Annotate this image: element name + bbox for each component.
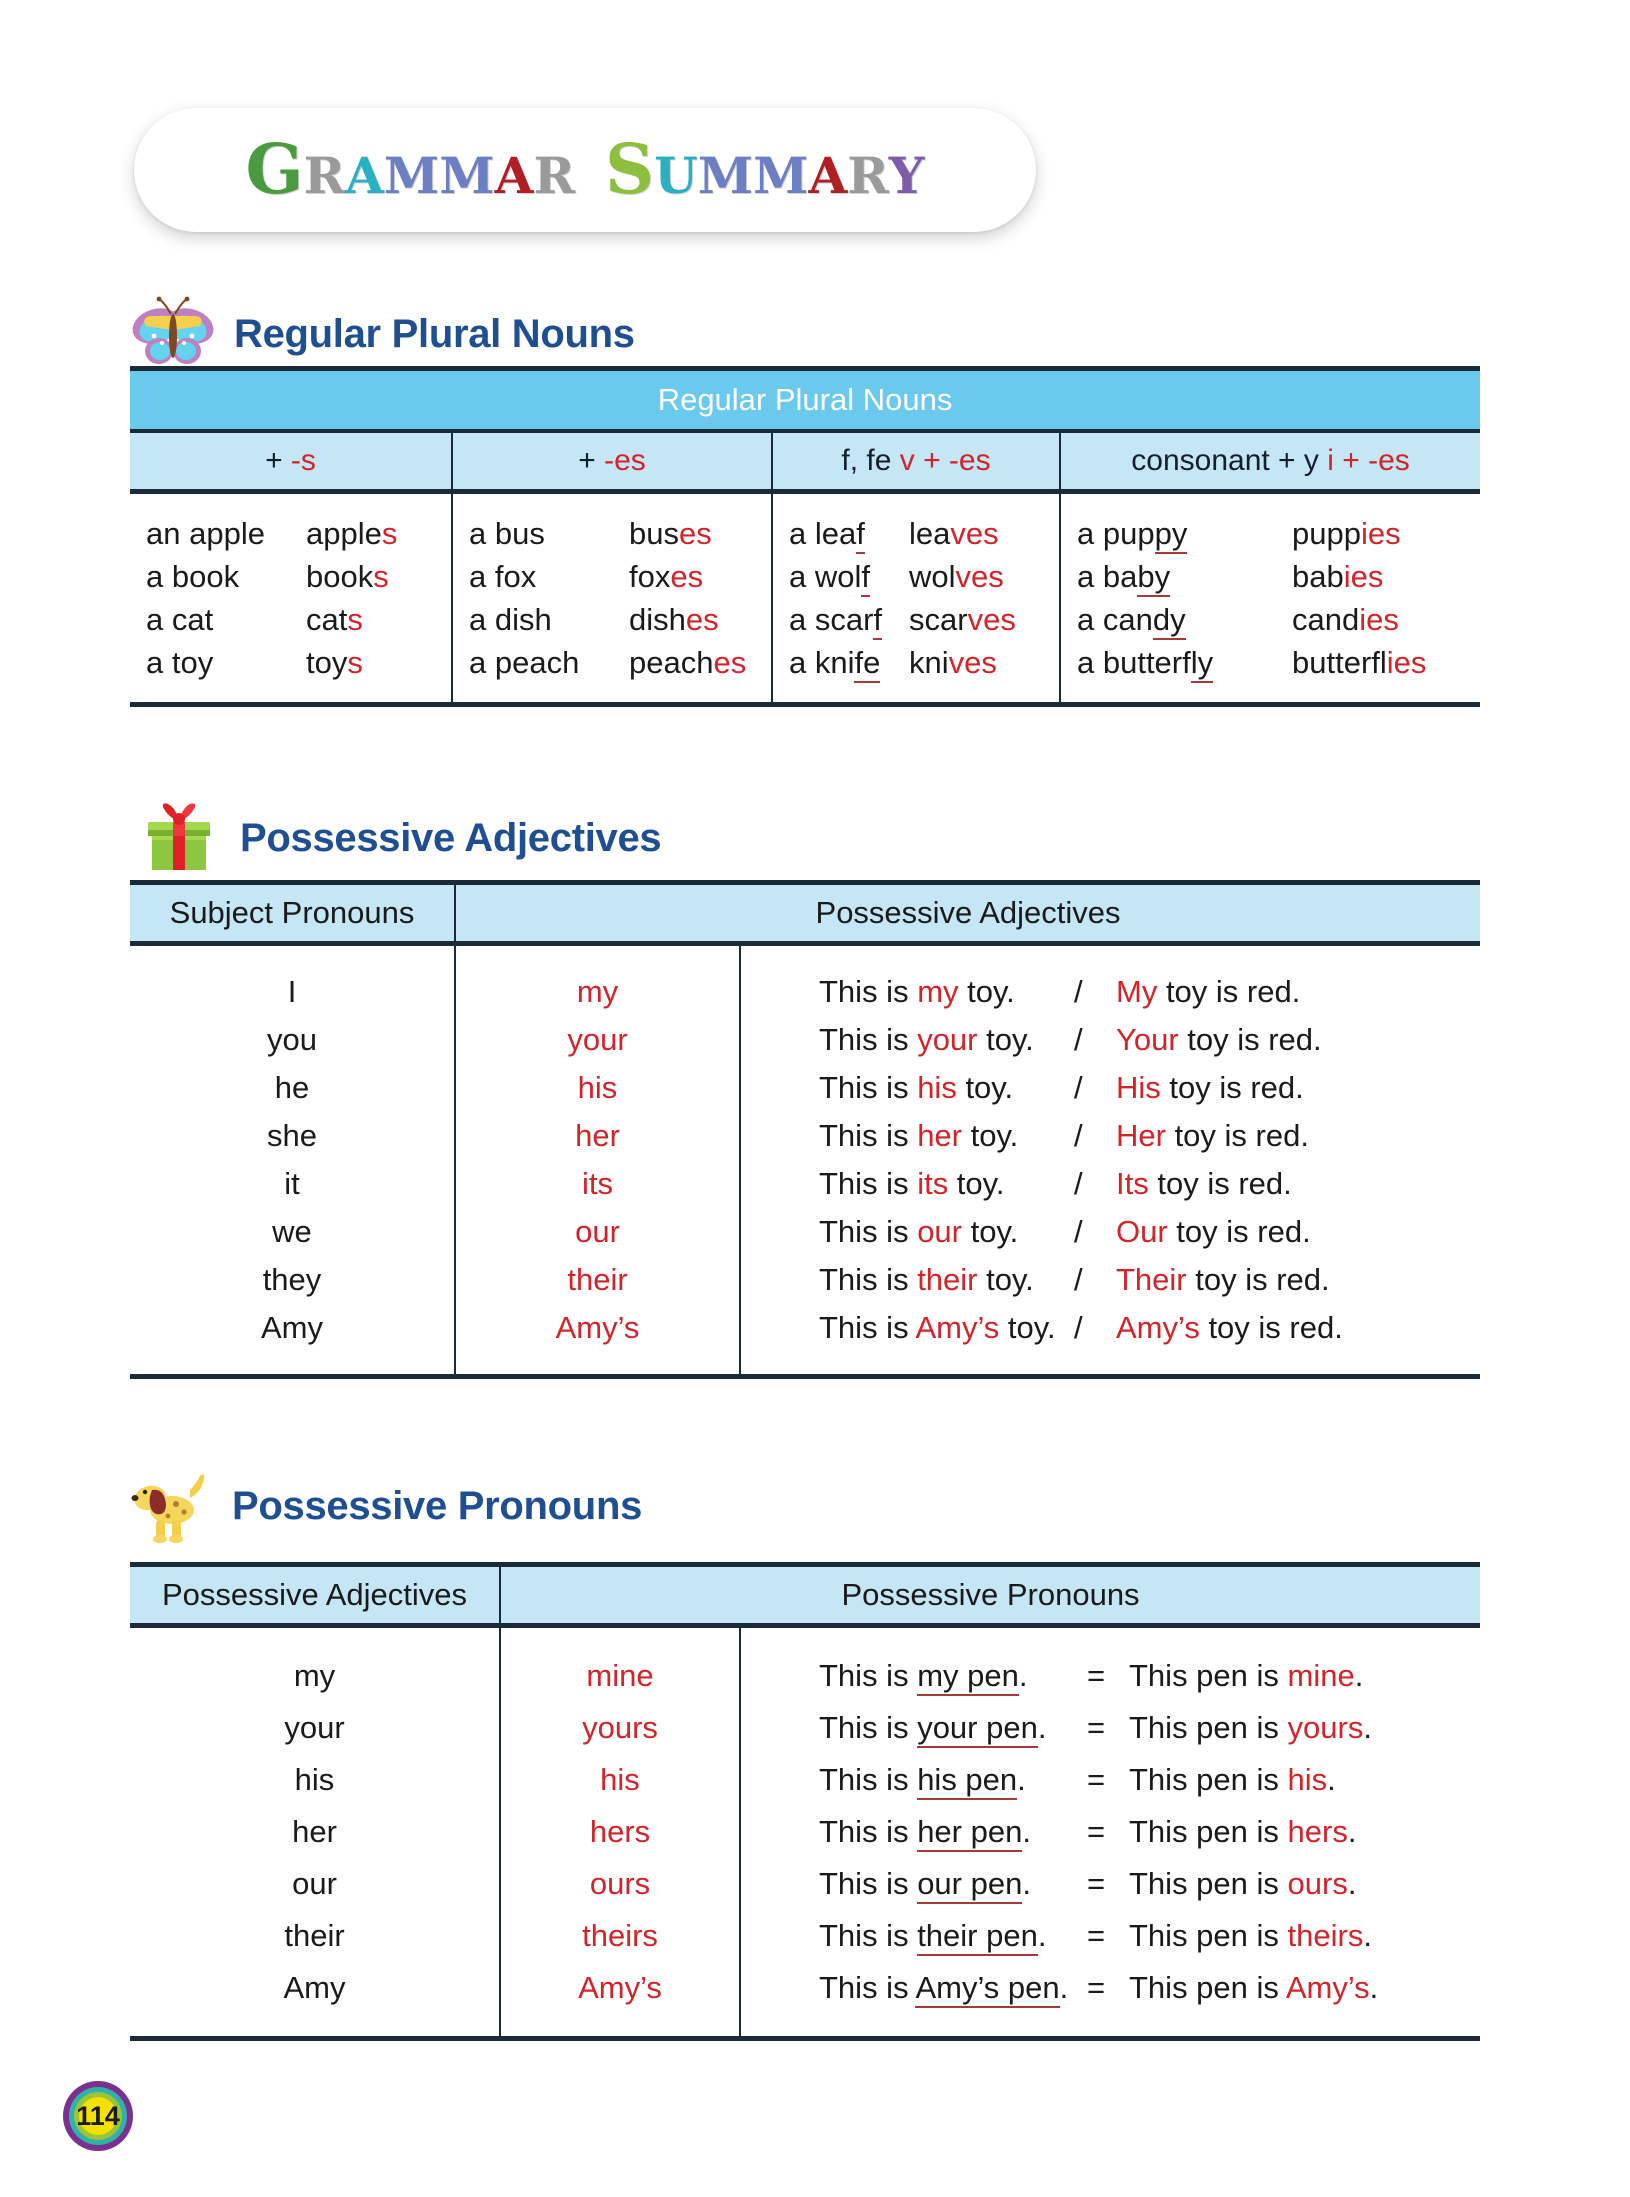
plural-pair: a bookbooks: [146, 559, 451, 595]
plural-suffix: ves: [950, 516, 998, 551]
plural-form: cats: [306, 602, 363, 638]
singular-form: a leaf: [789, 516, 909, 552]
plural-suffix: ies: [1359, 602, 1399, 637]
sentence-separator: /: [1074, 1262, 1116, 1298]
table-spacer: [130, 944, 1480, 969]
example-sentence-1: This is your pen.: [819, 1710, 1087, 1746]
title-letter: M: [698, 151, 753, 201]
possessive-adjective-cell: our: [455, 1208, 740, 1256]
sentence-text: This pen is: [1129, 1866, 1288, 1901]
example-sentence-2: This pen is Amy’s.: [1129, 1970, 1378, 2005]
table-row: AmyAmy’sThis is Amy’s toy./Amy’s toy is …: [130, 1304, 1480, 1352]
plural-pair: a scarfscarves: [789, 602, 1059, 638]
table-spacer-bottom: [130, 684, 1480, 705]
plural-pair: an appleapples: [146, 516, 451, 552]
plural-stem: butterfl: [1292, 645, 1387, 680]
table-row: ititsThis is its toy./Its toy is red.: [130, 1160, 1480, 1208]
example-sentence-2: His toy is red.: [1116, 1070, 1304, 1105]
table-subheader-row: + -s + -es f, fe v + -es consonant + y i…: [130, 431, 1480, 492]
table-row: ImyThis is my toy./My toy is red.: [130, 968, 1480, 1016]
singular-form: a toy: [146, 645, 306, 681]
example-sentence-1: This is Amy’s pen.: [819, 1970, 1087, 2006]
highlighted-word: your: [917, 1022, 977, 1057]
plural-stem: cat: [306, 602, 347, 637]
highlighted-word: Amy’s: [1286, 1970, 1370, 2005]
example-sentences-cell: This is their pen.=This pen is theirs.: [740, 1910, 1480, 1962]
sentence-text: toy is red.: [1161, 1070, 1304, 1105]
example-sentence-pair: This is their pen.=This pen is theirs.: [819, 1918, 1372, 1954]
example-sentence-2: Its toy is red.: [1116, 1166, 1292, 1201]
sentence-separator: =: [1087, 1814, 1129, 1850]
example-sentence-pair: This is my toy./My toy is red.: [819, 974, 1300, 1010]
sentence-text: This is: [819, 1118, 917, 1153]
section-header-possessive-adjectives: Possessive Adjectives: [136, 800, 661, 876]
sentence-text: This is: [819, 1762, 917, 1797]
plural-suffix: ies: [1361, 516, 1401, 551]
example-sentence-pair: This is my pen.=This pen is mine.: [819, 1658, 1363, 1694]
possessive-pronoun-cell: ours: [500, 1858, 740, 1910]
highlighted-word: Her: [1116, 1118, 1166, 1153]
table-regular-plural-nouns: Regular Plural Nouns + -s + -es f, fe v …: [130, 366, 1480, 707]
singular-stem: a can: [1077, 602, 1153, 637]
gift-box-icon: [136, 800, 222, 876]
sentence-text: This pen is: [1129, 1762, 1288, 1797]
underlined-phrase: my pen: [917, 1658, 1019, 1696]
sentence-text: toy.: [962, 1118, 1018, 1153]
possessive-adjective-cell: your: [130, 1702, 500, 1754]
plural-pair: a dishdishes: [469, 602, 771, 638]
plural-form: wolves: [909, 559, 1004, 595]
sentence-text: .: [1348, 1814, 1357, 1849]
singular-form: a puppy: [1077, 516, 1292, 552]
plural-suffix: ves: [968, 602, 1016, 637]
table-row: theirtheirsThis is their pen.=This pen i…: [130, 1910, 1480, 1962]
sentence-separator: /: [1074, 1118, 1116, 1154]
plural-form: buses: [629, 516, 712, 552]
plural-form: knives: [909, 645, 997, 681]
sentence-separator: /: [1074, 1070, 1116, 1106]
title-letter: A: [808, 151, 847, 201]
highlighted-word: Its: [1116, 1166, 1149, 1201]
example-sentences-cell: This is my pen.=This pen is mine.: [740, 1650, 1480, 1702]
example-sentences-cell: This is his toy./His toy is red.: [740, 1064, 1480, 1112]
section-header-regular-plural-nouns: Regular Plural Nouns: [130, 296, 635, 372]
plural-pair-cell: a busbuses: [452, 512, 772, 555]
sentence-separator: /: [1074, 1310, 1116, 1346]
singular-ending-underlined: f: [861, 559, 870, 597]
subject-pronoun-cell: we: [130, 1208, 455, 1256]
plural-form: foxes: [629, 559, 703, 595]
plural-stem: pupp: [1292, 516, 1361, 551]
plural-form: dishes: [629, 602, 719, 638]
column-header-possessive-pronouns: Possessive Pronouns: [500, 1565, 1480, 1626]
example-sentence-2: This pen is theirs.: [1129, 1918, 1372, 1953]
column-header-f-fe: f, fe v + -es: [772, 431, 1060, 492]
example-sentence-2: This pen is his.: [1129, 1762, 1336, 1797]
example-sentences-cell: This is its toy./Its toy is red.: [740, 1160, 1480, 1208]
example-sentence-pair: This is its toy./Its toy is red.: [819, 1166, 1292, 1202]
plural-pair: a peachpeaches: [469, 645, 771, 681]
plural-pair-cell: a scarfscarves: [772, 598, 1060, 641]
possessive-adjective-cell: Amy’s: [455, 1304, 740, 1352]
example-sentence-1: This is its toy.: [819, 1166, 1074, 1202]
table-header-row: Subject Pronouns Possessive Adjectives: [130, 883, 1480, 944]
sentence-text: This pen is: [1129, 1918, 1288, 1953]
sentence-text: toy is red.: [1149, 1166, 1292, 1201]
plural-stem: book: [306, 559, 373, 594]
plural-form: puppies: [1292, 516, 1401, 552]
example-sentence-2: This pen is yours.: [1129, 1710, 1372, 1745]
table-row: herhersThis is her pen.=This pen is hers…: [130, 1806, 1480, 1858]
underlined-phrase: her pen: [917, 1814, 1022, 1852]
highlighted-word: My: [1116, 974, 1157, 1009]
title-letter: A: [495, 151, 534, 201]
possessive-adjective-cell: Amy: [130, 1962, 500, 2014]
table-row: theytheirThis is their toy./Their toy is…: [130, 1256, 1480, 1304]
example-sentence-2: Amy’s toy is red.: [1116, 1310, 1343, 1345]
sentence-separator: /: [1074, 1166, 1116, 1202]
title-word-summary: SUMMARY: [605, 136, 925, 204]
plural-pair-cell: a catcats: [130, 598, 452, 641]
example-sentence-pair: This is his toy./His toy is red.: [819, 1070, 1304, 1106]
plural-form: scarves: [909, 602, 1016, 638]
example-sentence-2: Her toy is red.: [1116, 1118, 1309, 1153]
plural-pair-cell: a leafleaves: [772, 512, 1060, 555]
page-title-plaque: GRAMMAR SUMMARY: [134, 108, 1036, 232]
sentence-text: .: [1363, 1710, 1372, 1745]
table-spacer-bottom: [130, 2014, 1480, 2039]
possessive-pronoun-cell: his: [500, 1754, 740, 1806]
singular-stem: a butterf: [1077, 645, 1191, 680]
possessive-adjective-cell: its: [455, 1160, 740, 1208]
title-word-grammar: GRAMMAR: [245, 136, 575, 204]
possessive-adjective-cell: his: [455, 1064, 740, 1112]
plural-form: peaches: [629, 645, 746, 681]
plural-form: apples: [306, 516, 397, 552]
plural-suffix: ies: [1344, 559, 1384, 594]
highlighted-word: yours: [1288, 1710, 1364, 1745]
plural-suffix: ies: [1387, 645, 1427, 680]
plural-pair-cell: a babybabies: [1060, 555, 1480, 598]
sentence-text: .: [1022, 1866, 1031, 1901]
plural-pair-cell: a foxfoxes: [452, 555, 772, 598]
possessive-pronoun-cell: hers: [500, 1806, 740, 1858]
sentence-text: This is: [819, 1658, 917, 1693]
table-possessive-adjectives: Subject Pronouns Possessive Adjectives I…: [130, 880, 1480, 1379]
singular-stem: a pup: [1077, 516, 1155, 551]
section-header-possessive-pronouns: Possessive Pronouns: [128, 1468, 642, 1544]
example-sentences-cell: This is my toy./My toy is red.: [740, 968, 1480, 1016]
table-row: sheherThis is her toy./Her toy is red.: [130, 1112, 1480, 1160]
highlighted-word: his: [917, 1070, 957, 1105]
table-title: Regular Plural Nouns: [130, 369, 1480, 432]
plural-suffix: es: [686, 602, 719, 637]
possessive-adjective-cell: their: [455, 1256, 740, 1304]
plural-stem: fox: [629, 559, 670, 594]
plural-suffix: s: [382, 516, 398, 551]
plural-stem: toy: [306, 645, 347, 680]
example-sentences-cell: This is their toy./Their toy is red.: [740, 1256, 1480, 1304]
sentence-text: toy.: [978, 1022, 1034, 1057]
title-letter: M: [753, 151, 808, 201]
example-sentence-pair: This is her toy./Her toy is red.: [819, 1118, 1309, 1154]
singular-ending-underlined: f: [856, 516, 865, 554]
plural-pair: a wolfwolves: [789, 559, 1059, 595]
possessive-adjective-cell: your: [455, 1016, 740, 1064]
singular-ending-underlined: f: [873, 602, 882, 640]
butterfly-icon: [130, 296, 216, 372]
singular-stem: a kni: [789, 645, 854, 680]
sentence-text: This is: [819, 1310, 915, 1345]
highlighted-word: their: [917, 1262, 977, 1297]
highlighted-word: her: [917, 1118, 962, 1153]
table-spacer: [130, 492, 1480, 513]
sentence-separator: /: [1074, 974, 1116, 1010]
plural-suffix: es: [713, 645, 746, 680]
table-row: hehisThis is his toy./His toy is red.: [130, 1064, 1480, 1112]
sentence-text: toy is red.: [1157, 974, 1300, 1009]
singular-form: a butterfly: [1077, 645, 1292, 681]
table-row: hishisThis is his pen.=This pen is his.: [130, 1754, 1480, 1806]
singular-stem: a wol: [789, 559, 861, 594]
example-sentence-2: Your toy is red.: [1116, 1022, 1322, 1057]
plural-suffix: s: [347, 645, 363, 680]
sentence-text: This is: [819, 1214, 917, 1249]
example-sentence-1: This is your toy.: [819, 1022, 1074, 1058]
section-title: Possessive Adjectives: [240, 816, 661, 861]
plural-stem: scar: [909, 602, 968, 637]
sentence-text: toy.: [999, 1310, 1055, 1345]
underlined-phrase: his pen: [917, 1762, 1017, 1800]
highlighted-word: his: [1288, 1762, 1328, 1797]
plural-pair: a butterflybutterflies: [1077, 645, 1480, 681]
sentence-text: .: [1022, 1814, 1031, 1849]
sentence-text: .: [1370, 1970, 1379, 2005]
sentence-text: toy.: [959, 974, 1015, 1009]
plural-suffix: s: [347, 602, 363, 637]
column-header-plus-es: + -es: [452, 431, 772, 492]
possessive-adjective-cell: our: [130, 1858, 500, 1910]
sentence-text: This pen is: [1129, 1658, 1288, 1693]
plural-pair: a knifeknives: [789, 645, 1059, 681]
highlighted-word: our: [917, 1214, 962, 1249]
title-letter: U: [654, 151, 698, 201]
example-sentence-2: This pen is hers.: [1129, 1814, 1356, 1849]
example-sentences-cell: This is your pen.=This pen is yours.: [740, 1702, 1480, 1754]
dog-icon: [128, 1468, 214, 1544]
example-sentence-1: This is our pen.: [819, 1866, 1087, 1902]
plural-pair: a candycandies: [1077, 602, 1480, 638]
sentence-text: This is: [819, 1970, 915, 2005]
grammar-summary-page: GRAMMAR SUMMARY: [0, 0, 1630, 2197]
plural-stem: cand: [1292, 602, 1359, 637]
plural-pair-cell: a bookbooks: [130, 555, 452, 598]
singular-stem: a ba: [1077, 559, 1137, 594]
singular-ending-underlined: dy: [1153, 602, 1186, 640]
singular-form: a peach: [469, 645, 629, 681]
highlighted-word: ours: [1288, 1866, 1348, 1901]
sentence-text: .: [1363, 1918, 1372, 1953]
example-sentence-pair: This is your pen.=This pen is yours.: [819, 1710, 1372, 1746]
highlighted-word: Your: [1116, 1022, 1179, 1057]
plural-stem: apple: [306, 516, 382, 551]
example-sentence-2: Our toy is red.: [1116, 1214, 1311, 1249]
singular-form: a wolf: [789, 559, 909, 595]
highlighted-word: mine: [1288, 1658, 1355, 1693]
possessive-adjective-cell: my: [130, 1650, 500, 1702]
plural-pair-cell: a toytoys: [130, 641, 452, 684]
title-letter: M: [439, 151, 494, 201]
plural-pair: a toytoys: [146, 645, 451, 681]
possessive-adjective-cell: my: [455, 968, 740, 1016]
singular-stem: a scar: [789, 602, 873, 637]
singular-ending-underlined: by: [1137, 559, 1170, 597]
column-header-consonant-y: consonant + y i + -es: [1060, 431, 1480, 492]
highlighted-word: Amy’s: [915, 1310, 999, 1345]
possessive-adjective-cell: his: [130, 1754, 500, 1806]
singular-form: a scarf: [789, 602, 909, 638]
underlined-phrase: their pen: [917, 1918, 1038, 1956]
plural-pair-cell: a peachpeaches: [452, 641, 772, 684]
plural-stem: kni: [909, 645, 949, 680]
singular-form: a book: [146, 559, 306, 595]
sentence-separator: =: [1087, 1762, 1129, 1798]
plural-form: candies: [1292, 602, 1399, 638]
highlighted-word: theirs: [1288, 1918, 1364, 1953]
subject-pronoun-cell: I: [130, 968, 455, 1016]
title-letter: G: [245, 136, 303, 204]
table-row: AmyAmy’sThis is Amy’s pen.=This pen is A…: [130, 1962, 1480, 2014]
plural-pair: a foxfoxes: [469, 559, 771, 595]
sentence-text: .: [1060, 1970, 1069, 2005]
table-row: mymineThis is my pen.=This pen is mine.: [130, 1650, 1480, 1702]
sentence-text: This pen is: [1129, 1970, 1286, 2005]
example-sentences-cell: This is our toy./Our toy is red.: [740, 1208, 1480, 1256]
example-sentence-pair: This is our toy./Our toy is red.: [819, 1214, 1311, 1250]
sentence-text: .: [1327, 1762, 1336, 1797]
possessive-pronoun-cell: theirs: [500, 1910, 740, 1962]
plural-pair-cell: an appleapples: [130, 512, 452, 555]
plural-stem: dish: [629, 602, 686, 637]
plural-form: leaves: [909, 516, 999, 552]
sentence-text: .: [1019, 1658, 1028, 1693]
plural-pair-cell: a puppypuppies: [1060, 512, 1480, 555]
highlighted-word: Our: [1116, 1214, 1168, 1249]
sentence-separator: =: [1087, 1970, 1129, 2006]
sentence-separator: /: [1074, 1022, 1116, 1058]
example-sentence-pair: This is his pen.=This pen is his.: [819, 1762, 1336, 1798]
example-sentence-1: This is her toy.: [819, 1118, 1074, 1154]
table-row: youyourThis is your toy./Your toy is red…: [130, 1016, 1480, 1064]
table-row: a catcatsa dishdishesa scarfscarvesa can…: [130, 598, 1480, 641]
sentence-text: .: [1038, 1918, 1047, 1953]
subject-pronoun-cell: it: [130, 1160, 455, 1208]
sentence-text: toy.: [962, 1214, 1018, 1249]
plural-pair-cell: a wolfwolves: [772, 555, 1060, 598]
sentence-text: toy.: [957, 1070, 1013, 1105]
title-letter: S: [605, 136, 654, 204]
sentence-text: toy is red.: [1166, 1118, 1309, 1153]
plural-suffix: es: [679, 516, 712, 551]
singular-stem: a lea: [789, 516, 856, 551]
sentence-text: This is: [819, 1022, 917, 1057]
example-sentence-1: This is Amy’s toy.: [819, 1310, 1074, 1346]
plural-pair: a leafleaves: [789, 516, 1059, 552]
plural-suffix: es: [670, 559, 703, 594]
singular-form: a dish: [469, 602, 629, 638]
singular-form: a fox: [469, 559, 629, 595]
table-header-row: Possessive Adjectives Possessive Pronoun…: [130, 1565, 1480, 1626]
underlined-phrase: Amy’s pen: [915, 1970, 1059, 2008]
subject-pronoun-cell: she: [130, 1112, 455, 1160]
highlighted-word: Amy’s: [1116, 1310, 1200, 1345]
plural-pair-cell: a knifeknives: [772, 641, 1060, 684]
table-row: youryoursThis is your pen.=This pen is y…: [130, 1702, 1480, 1754]
sentence-separator: =: [1087, 1866, 1129, 1902]
example-sentence-pair: This is their toy./Their toy is red.: [819, 1262, 1330, 1298]
example-sentence-pair: This is Amy’s toy./Amy’s toy is red.: [819, 1310, 1343, 1346]
sentence-text: toy is red.: [1187, 1262, 1330, 1297]
sentence-text: This is: [819, 974, 917, 1009]
sentence-text: .: [1355, 1658, 1364, 1693]
highlighted-word: hers: [1288, 1814, 1348, 1849]
singular-form: a knife: [789, 645, 909, 681]
subject-pronoun-cell: they: [130, 1256, 455, 1304]
plural-form: butterflies: [1292, 645, 1426, 681]
plural-pair-cell: a candycandies: [1060, 598, 1480, 641]
example-sentences-cell: This is Amy’s toy./Amy’s toy is red.: [740, 1304, 1480, 1352]
example-sentence-pair: This is her pen.=This pen is hers.: [819, 1814, 1356, 1850]
title-letter: R: [847, 151, 889, 201]
sentence-text: toy.: [948, 1166, 1004, 1201]
example-sentence-pair: This is our pen.=This pen is ours.: [819, 1866, 1356, 1902]
underlined-phrase: your pen: [917, 1710, 1038, 1748]
plural-stem: wol: [909, 559, 956, 594]
sentence-text: This is: [819, 1166, 917, 1201]
example-sentences-cell: This is her toy./Her toy is red.: [740, 1112, 1480, 1160]
singular-ending-underlined: ly: [1191, 645, 1213, 683]
plural-pair: a catcats: [146, 602, 451, 638]
sentence-text: toy is red.: [1168, 1214, 1311, 1249]
sentence-text: .: [1017, 1762, 1026, 1797]
plural-suffix: ves: [956, 559, 1004, 594]
example-sentences-cell: This is your toy./Your toy is red.: [740, 1016, 1480, 1064]
possessive-pronoun-cell: yours: [500, 1702, 740, 1754]
example-sentence-1: This is his toy.: [819, 1070, 1074, 1106]
highlighted-word: my: [917, 974, 958, 1009]
table-spacer-bottom: [130, 1352, 1480, 1377]
example-sentence-1: This is their pen.: [819, 1918, 1087, 1954]
plural-form: babies: [1292, 559, 1383, 595]
column-header-possessive-adjectives: Possessive Adjectives: [130, 1565, 500, 1626]
plural-stem: bab: [1292, 559, 1344, 594]
example-sentence-1: This is our toy.: [819, 1214, 1074, 1250]
table-row: weourThis is our toy./Our toy is red.: [130, 1208, 1480, 1256]
singular-ending-underlined: fe: [854, 645, 880, 683]
sentence-text: toy.: [978, 1262, 1034, 1297]
title-letter: R: [304, 151, 346, 201]
possessive-pronoun-cell: mine: [500, 1650, 740, 1702]
plural-pair-cell: a butterflybutterflies: [1060, 641, 1480, 684]
possessive-adjective-cell: her: [130, 1806, 500, 1858]
example-sentence-1: This is their toy.: [819, 1262, 1074, 1298]
plural-stem: peach: [629, 645, 713, 680]
example-sentences-cell: This is his pen.=This pen is his.: [740, 1754, 1480, 1806]
sentence-separator: =: [1087, 1658, 1129, 1694]
sentence-text: This is: [819, 1262, 917, 1297]
sentence-separator: =: [1087, 1710, 1129, 1746]
highlighted-word: Their: [1116, 1262, 1187, 1297]
